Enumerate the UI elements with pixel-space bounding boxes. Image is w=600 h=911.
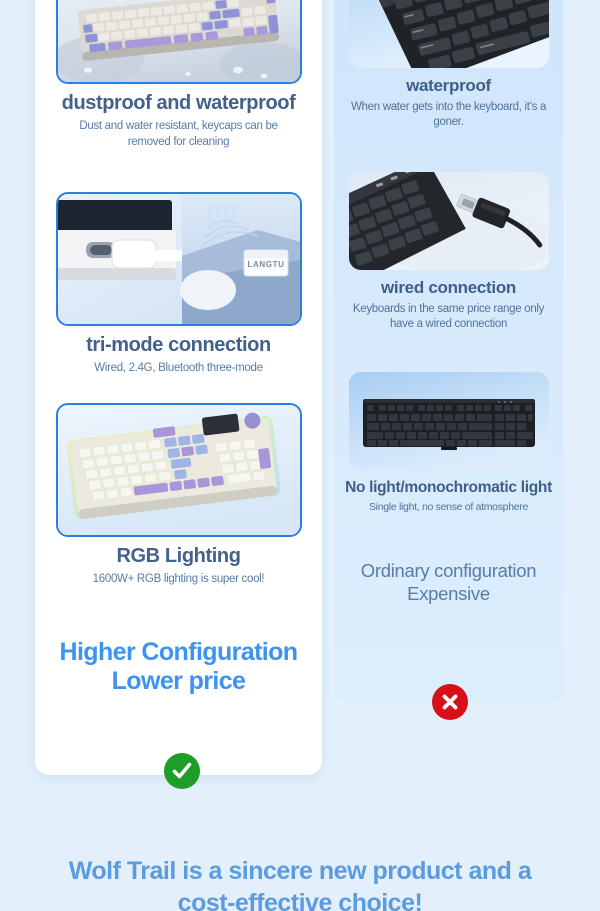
check-icon <box>170 759 194 783</box>
right-feature-subtitle: When water gets into the keyboard, it's … <box>334 100 563 131</box>
image-black-membrane-keyboard <box>349 0 549 68</box>
image-white-purple-keyboard-water <box>56 0 302 84</box>
left-feature-rgb: RGB Lighting 1600W+ RGB lighting is supe… <box>35 403 322 588</box>
svg-text:LANGTU: LANGTU <box>247 260 284 269</box>
product-summary: Higher Configuration Lower price <box>35 638 322 696</box>
image-keyboard-usb-cable <box>349 172 549 270</box>
black-keyboard-closeup-illustration <box>349 0 549 68</box>
right-feature-nolight: No light/monochromatic light Single ligh… <box>334 372 563 514</box>
left-feature-title: dustproof and waterproof <box>35 92 322 114</box>
competitor-summary-line2: Expensive <box>334 583 563 606</box>
bottom-headline-line2: cost-effective choice! <box>0 887 600 911</box>
right-feature-title: wired connection <box>334 279 563 298</box>
right-feature-title: No light/monochromatic light <box>334 479 563 496</box>
image-usbc-cable-and-dongle: LANGTU <box>56 192 302 326</box>
connection-illustration: LANGTU <box>58 194 300 324</box>
right-feature-waterproof: waterproof When water gets into the keyb… <box>334 0 563 131</box>
image-plain-black-keyboard <box>349 372 549 470</box>
red-x-badge <box>432 684 468 720</box>
cross-icon <box>439 691 461 713</box>
competitor-summary-line1: Ordinary configuration <box>334 560 563 583</box>
full-size-keyboard-illustration <box>349 372 549 470</box>
rgb-keyboard-illustration <box>58 405 300 535</box>
left-feature-title: tri-mode connection <box>35 334 322 356</box>
left-feature-subtitle: 1600W+ RGB lighting is super cool! <box>35 572 322 588</box>
product-summary-line1: Higher Configuration <box>35 638 322 667</box>
right-feature-title: waterproof <box>334 77 563 96</box>
left-feature-subtitle: Wired, 2.4G, Bluetooth three-mode <box>35 361 322 377</box>
keyboard-water-illustration <box>58 0 300 82</box>
right-feature-wired: wired connection Keyboards in the same p… <box>334 172 563 333</box>
comparison-infographic: dustproof and waterproof Dust and water … <box>0 0 600 911</box>
left-feature-title: RGB Lighting <box>35 545 322 567</box>
left-feature-dustproof: dustproof and waterproof Dust and water … <box>35 0 322 150</box>
product-summary-line2: Lower price <box>35 667 322 696</box>
right-feature-subtitle: Single light, no sense of atmosphere <box>334 500 563 514</box>
usb-cable-illustration <box>349 172 549 270</box>
left-feature-subtitle: Dust and water resistant, keycaps can be… <box>35 119 322 150</box>
right-feature-subtitle: Keyboards in the same price range only h… <box>334 302 563 333</box>
image-rgb-pastel-keyboard <box>56 403 302 537</box>
bottom-headline: Wolf Trail is a sincere new product and … <box>0 855 600 911</box>
green-check-badge <box>164 753 200 789</box>
bottom-headline-line1: Wolf Trail is a sincere new product and … <box>0 855 600 887</box>
left-feature-trimode: LANGTU tri-mode c <box>35 192 322 377</box>
competitor-summary: Ordinary configuration Expensive <box>334 560 563 605</box>
product-panel: dustproof and waterproof Dust and water … <box>35 0 322 775</box>
competitor-panel: waterproof When water gets into the keyb… <box>334 0 563 702</box>
